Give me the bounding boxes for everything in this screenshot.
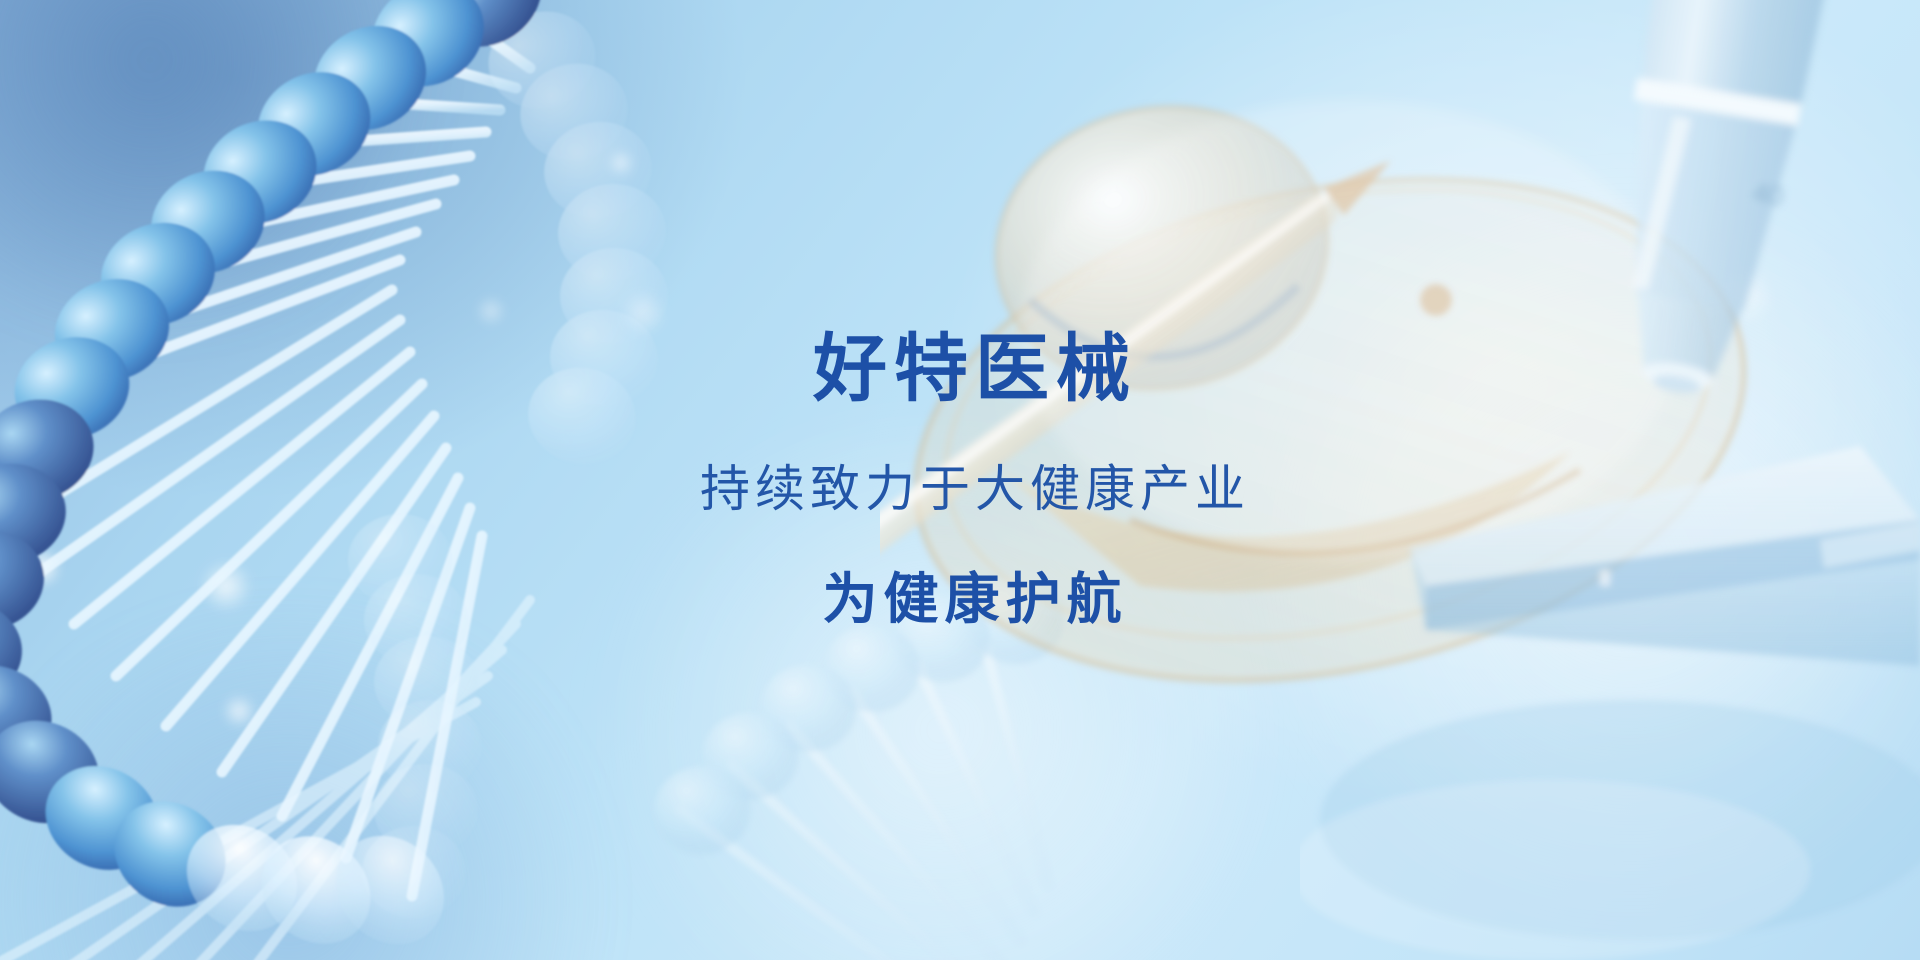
- hero-banner: 40 好特医械 持续致力于大健康产业 为健康护航: [0, 0, 1920, 960]
- page-tagline: 为健康护航: [0, 569, 1920, 630]
- page-title: 好特医械: [0, 330, 1920, 408]
- hero-text-block: 好特医械 持续致力于大健康产业 为健康护航: [0, 330, 1920, 630]
- page-subtitle: 持续致力于大健康产业: [0, 462, 1920, 517]
- microscope-lens-marking: 40: [1750, 177, 1786, 212]
